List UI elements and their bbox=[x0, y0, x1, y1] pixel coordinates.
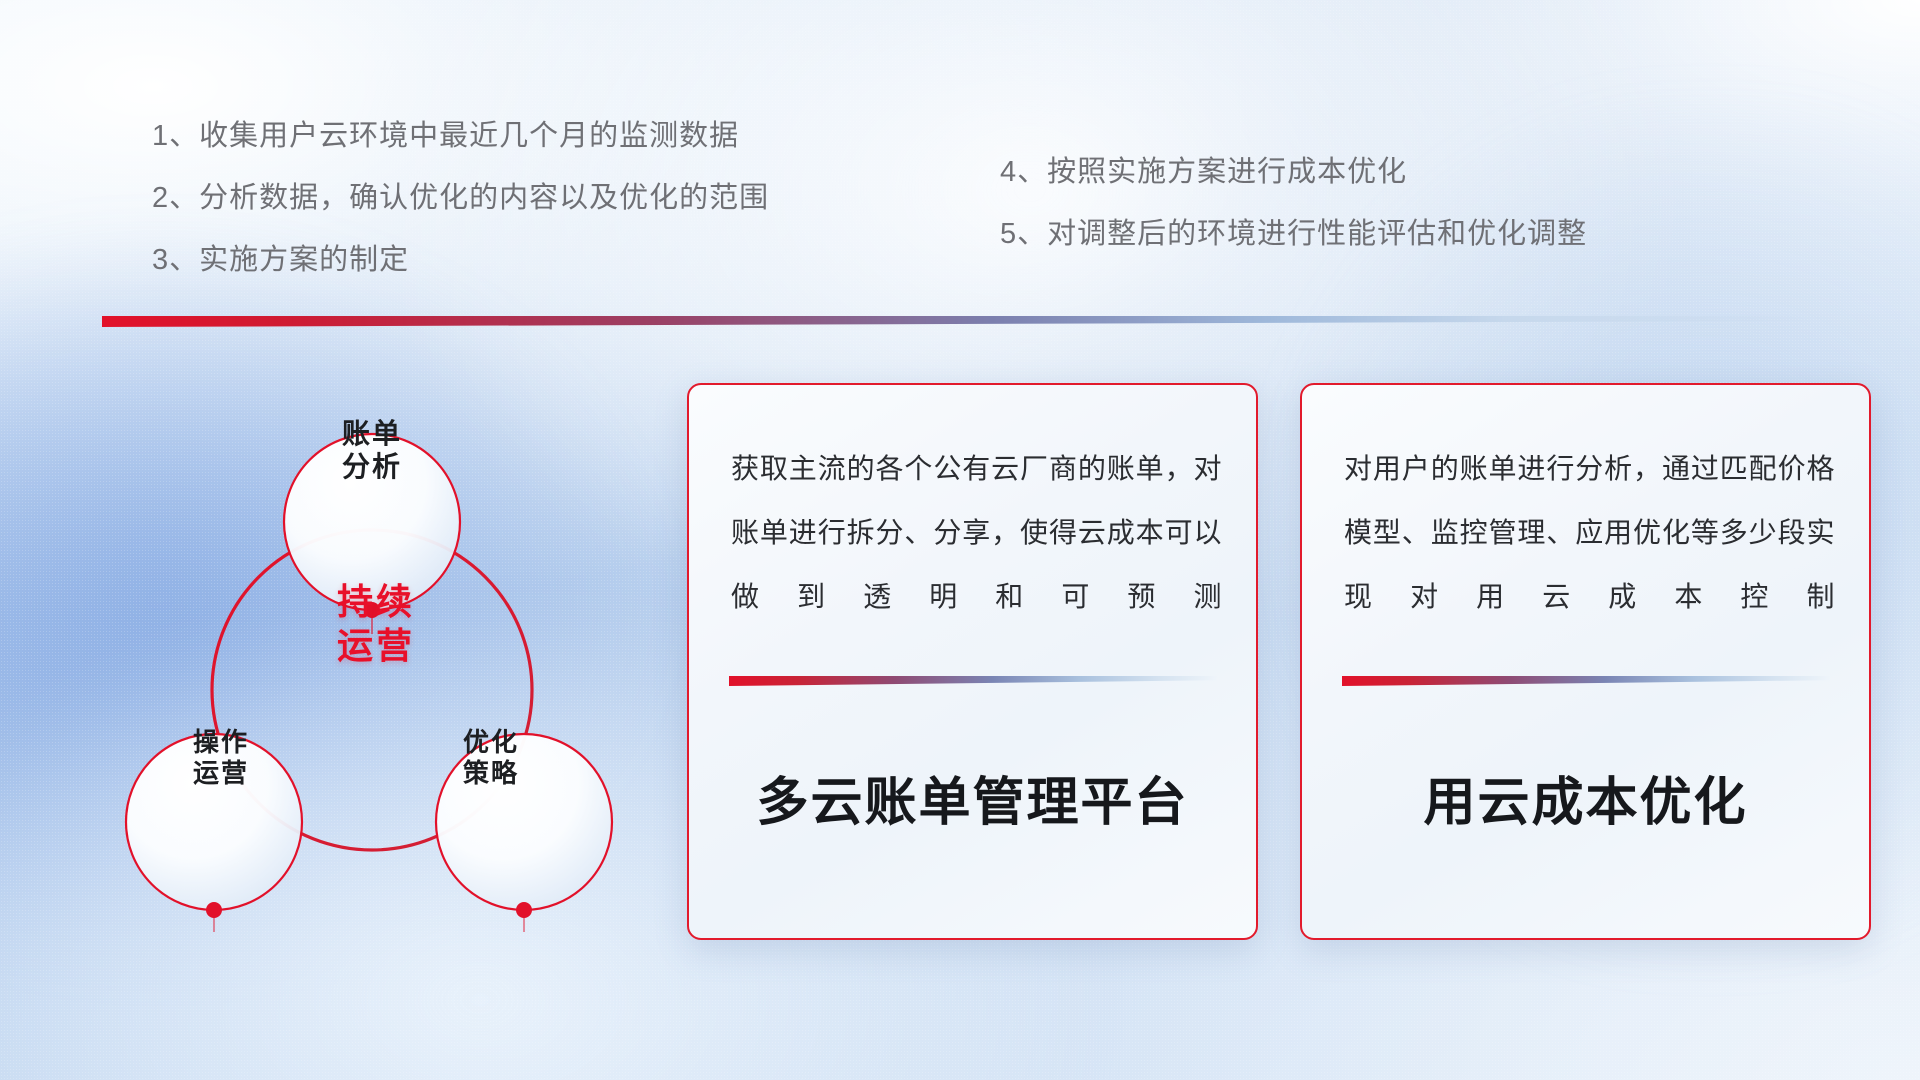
venn-dot-bottom-right bbox=[516, 902, 532, 918]
feature-card-cost-optimization[interactable]: 对用户的账单进行分析，通过匹配价格模型、监控管理、应用优化等多少段实现对用云成本… bbox=[1300, 383, 1871, 940]
step-item-4: 4、按照实施方案进行成本优化 bbox=[1000, 158, 1587, 187]
venn-node-bottom-left-label-line1: 操作 bbox=[136, 727, 306, 758]
steps-column-left: 1、收集用户云环境中最近几个月的监测数据 2、分析数据，确认优化的内容以及优化的… bbox=[152, 122, 769, 308]
venn-diagram: 账单 分析 操作 运营 优化 策略 持续 运营 bbox=[96, 352, 656, 952]
step-item-5: 5、对调整后的环境进行性能评估和优化调整 bbox=[1000, 220, 1587, 249]
venn-node-top-label-line1: 账单 bbox=[282, 417, 462, 450]
step-item-1: 1、收集用户云环境中最近几个月的监测数据 bbox=[152, 122, 769, 151]
feature-card-cost-optimization-description: 对用户的账单进行分析，通过匹配价格模型、监控管理、应用优化等多少段实现对用云成本… bbox=[1344, 437, 1835, 628]
steps-column-right: 4、按照实施方案进行成本优化 5、对调整后的环境进行性能评估和优化调整 bbox=[1000, 158, 1587, 282]
venn-node-top-label-line2: 分析 bbox=[282, 450, 462, 483]
venn-node-top-label: 账单 分析 bbox=[282, 417, 462, 483]
feature-card-billing-platform-description: 获取主流的各个公有云厂商的账单，对账单进行拆分、分享，使得云成本可以做到透明和可… bbox=[731, 437, 1222, 628]
venn-center-label-line2: 运营 bbox=[286, 624, 466, 668]
venn-node-bottom-left-label-line2: 运营 bbox=[136, 758, 306, 789]
feature-card-cost-optimization-rule bbox=[1342, 676, 1830, 686]
step-item-3: 3、实施方案的制定 bbox=[152, 246, 769, 275]
feature-card-billing-platform[interactable]: 获取主流的各个公有云厂商的账单，对账单进行拆分、分享，使得云成本可以做到透明和可… bbox=[687, 383, 1258, 940]
venn-node-bottom-right-label-line1: 优化 bbox=[406, 727, 576, 758]
venn-node-bottom-right-label-line2: 策略 bbox=[406, 758, 576, 789]
step-item-2: 2、分析数据，确认优化的内容以及优化的范围 bbox=[152, 184, 769, 213]
feature-card-billing-platform-rule bbox=[729, 676, 1217, 686]
venn-center-label-line1: 持续 bbox=[286, 580, 466, 624]
venn-node-bottom-left-label: 操作 运营 bbox=[136, 727, 306, 788]
venn-center-label: 持续 运营 bbox=[286, 580, 466, 668]
feature-card-cost-optimization-title: 用云成本优化 bbox=[1302, 760, 1869, 835]
feature-card-billing-platform-title: 多云账单管理平台 bbox=[689, 760, 1256, 835]
venn-dot-bottom-left bbox=[206, 902, 222, 918]
venn-node-bottom-right-label: 优化 策略 bbox=[406, 727, 576, 788]
